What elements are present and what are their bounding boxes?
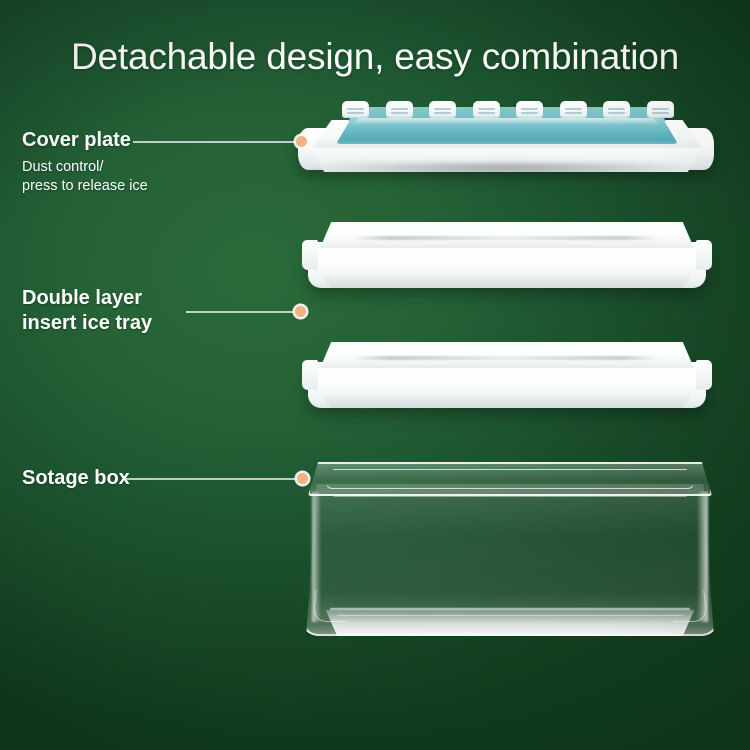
callout-cover-plate-subtitle-line1: Dust control/ (22, 158, 148, 177)
press-bump (603, 101, 630, 118)
tray-corner-tab-right (696, 240, 712, 270)
product-part-tray-lower (302, 342, 712, 418)
press-bump (342, 101, 369, 118)
marker-dot-storage-box (297, 473, 308, 484)
callout-cover-plate-subtitle-line2: press to release ice (22, 177, 148, 196)
press-bump (386, 101, 413, 118)
tray-gloss-highlight (342, 368, 672, 377)
tray-top-surface (320, 222, 694, 248)
marker-dot-insert-ice-tray (295, 306, 306, 317)
tray-top-surface (320, 342, 694, 368)
tray-cell-seam (354, 236, 658, 240)
callout-storage-box-title: Sotage box (22, 466, 130, 491)
storage-box-corner-right (670, 590, 707, 622)
callout-insert-ice-tray-title-line1: Double layer (22, 286, 152, 311)
tray-front-shading (316, 272, 698, 288)
product-part-tray-upper (302, 222, 712, 294)
tray-corner-tab-right (696, 360, 712, 390)
press-bump (647, 101, 674, 118)
storage-box-floor (318, 610, 702, 636)
tray-corner-tab-left (302, 240, 318, 270)
press-bump (560, 101, 587, 118)
product-part-cover-plate (290, 98, 722, 176)
cover-plate-press-bump-row (342, 101, 674, 119)
leader-line-cover-plate (133, 141, 300, 143)
cover-plate-teal-highlight (350, 118, 662, 125)
product-infographic-canvas: Detachable design, easy combination (0, 0, 750, 750)
storage-box-corner-left (312, 590, 349, 622)
leader-line-insert-ice-tray (186, 311, 299, 313)
callout-cover-plate-title: Cover plate (22, 128, 148, 153)
storage-box-inner-edge (326, 496, 694, 616)
tray-corner-tab-left (302, 360, 318, 390)
cover-plate-drop-shadow (320, 164, 692, 176)
press-bump (516, 101, 543, 118)
marker-dot-cover-plate (296, 136, 307, 147)
product-part-storage-box (300, 462, 720, 644)
page-title: Detachable design, easy combination (0, 36, 750, 78)
storage-box-rim-inner (326, 469, 694, 489)
press-bump (429, 101, 456, 118)
callout-insert-ice-tray-title-line2: insert ice tray (22, 311, 152, 336)
tray-front-shading (316, 392, 698, 408)
tray-cell-seam (354, 356, 658, 360)
press-bump (473, 101, 500, 118)
callout-insert-ice-tray: Double layer insert ice tray (22, 286, 152, 336)
leader-line-storage-box (126, 478, 301, 480)
callout-storage-box: Sotage box (22, 466, 130, 491)
storage-box-floor-edge (330, 608, 690, 610)
tray-gloss-highlight (342, 248, 672, 257)
callout-cover-plate: Cover plate Dust control/ press to relea… (22, 128, 148, 196)
